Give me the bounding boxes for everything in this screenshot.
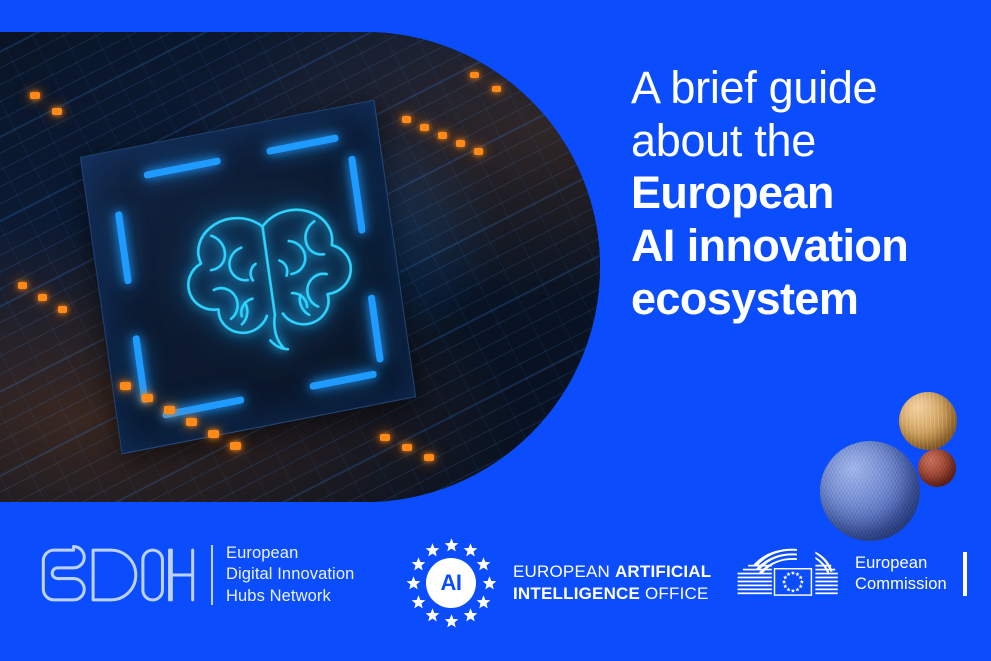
ec-line-1: European bbox=[855, 553, 947, 574]
eu-star-icon bbox=[800, 580, 804, 584]
edih-tagline: European Digital Innovation Hubs Network bbox=[226, 543, 354, 607]
ai-office-line-1: EUROPEAN ARTIFICIAL bbox=[513, 561, 711, 583]
eu-star-icon bbox=[791, 571, 795, 575]
led-light bbox=[38, 294, 47, 301]
led-light bbox=[402, 116, 411, 123]
led-light bbox=[52, 108, 62, 115]
eu-star-icon bbox=[799, 575, 803, 579]
page-title: A brief guide about the European AI inno… bbox=[631, 62, 976, 325]
led-light bbox=[492, 86, 501, 92]
ec-divider bbox=[963, 552, 967, 596]
brain-icon bbox=[140, 184, 400, 376]
eu-star-icon bbox=[425, 543, 440, 558]
headline-line-5: ecosystem bbox=[631, 273, 976, 326]
led-light bbox=[18, 282, 27, 289]
headline-line-3: European bbox=[631, 167, 976, 220]
led-light bbox=[420, 124, 429, 131]
edih-logo: European Digital Innovation Hubs Network bbox=[38, 543, 354, 607]
european-commission-emblem-icon bbox=[733, 545, 845, 603]
led-light bbox=[470, 72, 479, 78]
led-light bbox=[230, 442, 241, 450]
led-light bbox=[424, 454, 434, 461]
eu-star-icon bbox=[783, 575, 787, 579]
ai-stars-emblem-icon: AI bbox=[403, 535, 499, 631]
eu-star-icon bbox=[425, 608, 440, 623]
ai-office-line-2: INTELLIGENCE OFFICE bbox=[513, 583, 711, 605]
edih-tagline-line-3: Hubs Network bbox=[226, 586, 354, 607]
tan-sphere bbox=[899, 392, 957, 450]
ec-line-2: Commission bbox=[855, 574, 947, 595]
edih-tagline-line-1: European bbox=[226, 543, 354, 564]
eu-star-icon bbox=[444, 614, 459, 629]
eu-star-icon bbox=[463, 608, 478, 623]
led-light bbox=[58, 306, 67, 313]
ai-office-line-1-bold: ARTIFICIAL bbox=[615, 562, 711, 581]
eu-star-icon bbox=[444, 538, 459, 553]
ai-office-line-1-regular: EUROPEAN bbox=[513, 562, 615, 581]
led-light bbox=[456, 140, 465, 147]
red-sphere bbox=[918, 449, 956, 487]
eu-star-icon bbox=[795, 587, 799, 591]
led-light bbox=[164, 406, 175, 414]
eu-star-icon bbox=[799, 584, 803, 588]
eu-star-icon bbox=[476, 595, 491, 610]
ai-disc: AI bbox=[426, 558, 476, 608]
eu-star-icon bbox=[795, 572, 799, 576]
eu-star-icon bbox=[411, 557, 426, 572]
ai-disc-label: AI bbox=[441, 570, 462, 596]
led-light bbox=[474, 148, 483, 155]
led-light bbox=[380, 434, 390, 441]
footer-logo-bar: European Digital Innovation Hubs Network… bbox=[0, 521, 991, 661]
eu-star-icon bbox=[476, 557, 491, 572]
ai-office-line-2-regular: OFFICE bbox=[640, 584, 708, 603]
headline-line-1: A brief guide bbox=[631, 62, 976, 115]
european-commission-name: European Commission bbox=[855, 553, 947, 595]
edih-divider bbox=[211, 545, 213, 605]
headline-line-4: AI innovation bbox=[631, 220, 976, 273]
eu-star-icon bbox=[463, 543, 478, 558]
eu-star-icon bbox=[411, 595, 426, 610]
led-light bbox=[186, 418, 197, 426]
ai-office-logo: AI EUROPEAN ARTIFICIAL INTELLIGENCE OFFI… bbox=[403, 535, 711, 631]
led-light bbox=[402, 444, 412, 451]
eu-star-icon bbox=[783, 584, 787, 588]
european-commission-logo: European Commission bbox=[733, 545, 967, 603]
eu-star-icon bbox=[786, 572, 790, 576]
led-light bbox=[208, 430, 219, 438]
eu-star-icon bbox=[791, 589, 795, 593]
led-light bbox=[120, 382, 131, 390]
eu-star-icon bbox=[786, 587, 790, 591]
hero-image-panel bbox=[0, 32, 600, 502]
edih-wordmark-icon bbox=[38, 544, 198, 606]
led-light bbox=[438, 132, 447, 139]
circuit-trace bbox=[463, 32, 600, 401]
eu-star-icon bbox=[406, 576, 421, 591]
headline-line-2: about the bbox=[631, 115, 976, 168]
led-light bbox=[142, 394, 153, 402]
edih-tagline-line-2: Digital Innovation bbox=[226, 564, 354, 585]
eu-star-icon bbox=[782, 580, 786, 584]
circuit-trace bbox=[514, 32, 600, 375]
led-light bbox=[30, 92, 40, 99]
ai-office-name: EUROPEAN ARTIFICIAL INTELLIGENCE OFFICE bbox=[513, 561, 711, 606]
eu-star-icon bbox=[482, 576, 497, 591]
ai-office-line-2-bold: INTELLIGENCE bbox=[513, 584, 640, 603]
